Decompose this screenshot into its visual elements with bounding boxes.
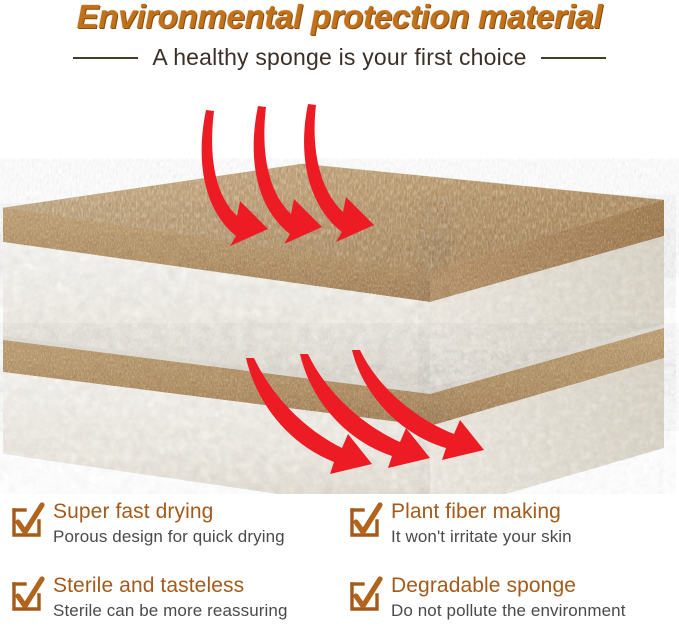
feature-subtitle: Sterile can be more reassuring [53, 601, 288, 621]
feature-subtitle: It won't irritate your skin [391, 527, 572, 547]
page-subtitle: A healthy sponge is your first choice [152, 44, 526, 71]
feature-title: Sterile and tasteless [53, 574, 288, 598]
feature-list: Super fast drying Porous design for quic… [0, 498, 679, 640]
feature-title: Plant fiber making [391, 500, 572, 524]
feature-item-super-fast-drying: Super fast drying Porous design for quic… [12, 500, 342, 547]
feature-title: Degradable sponge [391, 574, 626, 598]
feature-item-plant-fiber-making: Plant fiber making It won't irritate you… [350, 500, 679, 547]
right-rule [541, 57, 606, 59]
checkbox-checked-icon [350, 507, 380, 537]
sponge-illustration [0, 96, 679, 494]
feature-item-sterile-and-tasteless: Sterile and tasteless Sterile can be mor… [12, 574, 342, 621]
feature-item-degradable-sponge: Degradable sponge Do not pollute the env… [350, 574, 679, 621]
page-title: Environmental protection material [0, 0, 679, 36]
checkbox-checked-icon [12, 507, 42, 537]
feature-title: Super fast drying [53, 500, 285, 524]
left-rule [73, 57, 138, 59]
header: Environmental protection material A heal… [0, 0, 679, 92]
checkbox-checked-icon [12, 581, 42, 611]
subtitle-row: A healthy sponge is your first choice [0, 44, 679, 71]
feature-subtitle: Do not pollute the environment [391, 601, 626, 621]
infographic-page: Environmental protection material A heal… [0, 0, 679, 640]
product-image [0, 96, 679, 494]
feature-subtitle: Porous design for quick drying [53, 527, 285, 547]
checkbox-checked-icon [350, 581, 380, 611]
